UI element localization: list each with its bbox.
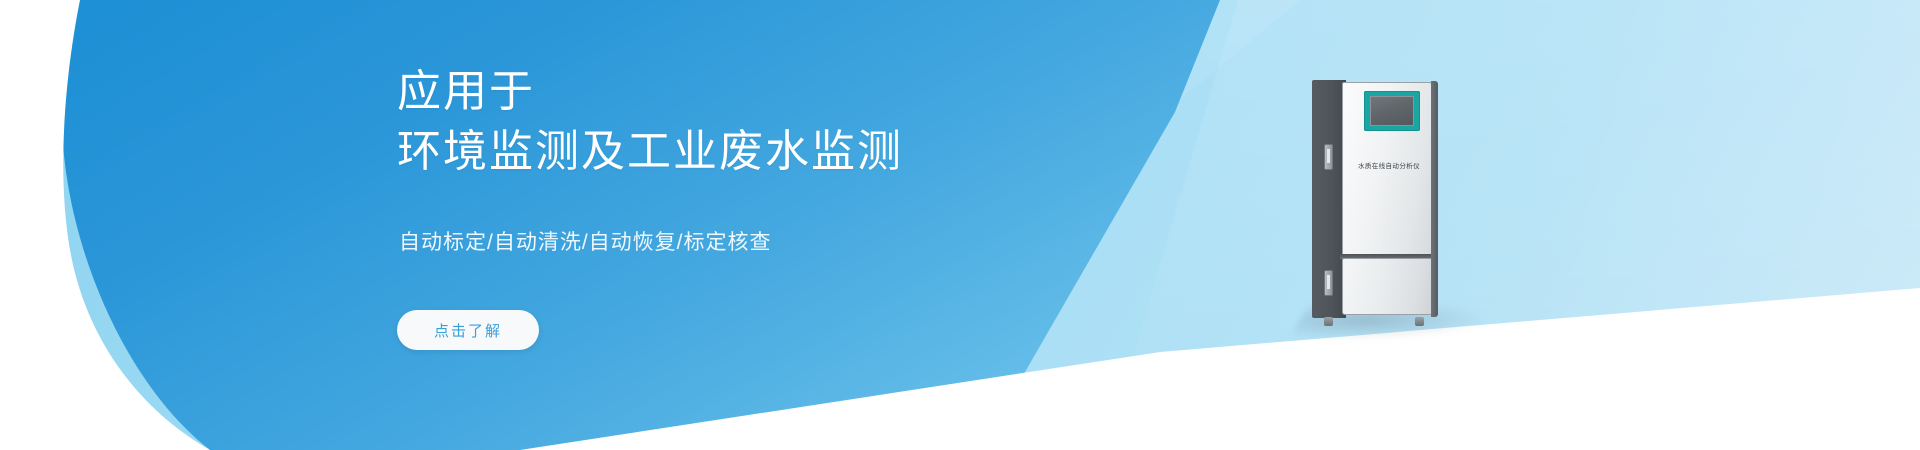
learn-more-button[interactable]: 点击了解 [397, 310, 539, 350]
display-screen-icon [1364, 91, 1420, 131]
banner-headline: 应用于 环境监测及工业废水监测 [397, 62, 903, 182]
lower-door-handle-icon [1324, 270, 1333, 296]
hero-banner: 水质在线自动分析仪 应用于 环境监测及工业废水监测 自动标定/自动清洗/自动恢复… [0, 0, 1920, 450]
headline-line-2: 环境监测及工业废水监测 [397, 122, 903, 182]
device-right-edge [1431, 81, 1438, 317]
banner-content: 应用于 环境监测及工业废水监测 自动标定/自动清洗/自动恢复/标定核查 点击了解 [397, 0, 1197, 450]
caster-right-icon [1415, 317, 1424, 326]
display-screen-glass [1370, 96, 1414, 126]
device-side-panel [1312, 80, 1346, 318]
caster-left-icon [1324, 317, 1333, 326]
headline-line-1: 应用于 [397, 62, 903, 122]
product-device-illustration: 水质在线自动分析仪 [1312, 80, 1438, 318]
device-lower-cabinet [1342, 258, 1433, 315]
banner-subtitle: 自动标定/自动清洗/自动恢复/标定核查 [399, 228, 772, 258]
upper-door-handle-icon [1324, 144, 1333, 170]
device-label-text: 水质在线自动分析仪 [1349, 160, 1429, 170]
